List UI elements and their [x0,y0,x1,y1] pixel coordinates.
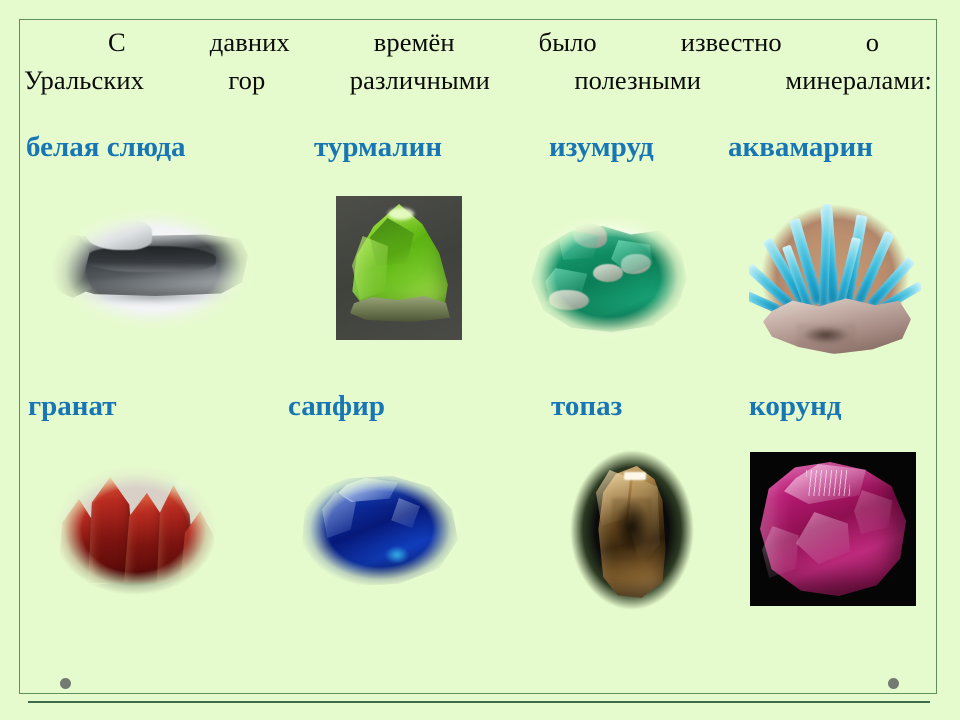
slide-footer-rule [28,701,930,703]
intro-word: Уральских [24,62,144,100]
topaz-specimen-image [570,450,694,610]
intro-word: известно [597,24,782,62]
mineral-label-garnet: гранат [28,390,117,423]
mineral-label-corundum: корунд [749,390,841,423]
intro-word: различными [350,62,490,100]
intro-word: полезными [574,62,701,100]
corundum-specimen-image [750,452,916,606]
intro-word: времён [290,24,455,62]
mineral-label-white-mica: белая слюда [26,131,186,164]
intro-word: минералами: [785,62,932,100]
intro-line-1: С давних времён было известно о богатств… [24,24,932,62]
sapphire-specimen-image [286,462,474,596]
mineral-label-sapphire: сапфир [288,390,385,423]
emerald-specimen-image [515,206,701,348]
white-mica-specimen-image [34,196,272,342]
mineral-label-tourmaline: турмалин [314,131,442,164]
tourmaline-specimen-image [336,196,462,340]
mineral-label-emerald: изумруд [549,131,654,164]
intro-word: гор [228,62,265,100]
intro-paragraph: С давних времён было известно о богатств… [24,24,932,99]
garnet-specimen-image [40,455,230,605]
intro-word: о [782,24,879,62]
slide-canvas: С давних времён было известно о богатств… [0,0,960,720]
mineral-label-aquamarine: аквамарин [728,131,873,164]
intro-word: богатстве [879,24,960,62]
aquamarine-specimen-image [749,196,921,364]
footer-dot-right-icon [888,678,899,689]
footer-dot-left-icon [60,678,71,689]
mineral-label-topaz: топаз [551,390,622,423]
intro-word: было [455,24,597,62]
intro-line-2: Уральских гор различными полезными минер… [24,62,932,100]
intro-word: давних [126,24,290,62]
intro-word: С [24,24,126,62]
